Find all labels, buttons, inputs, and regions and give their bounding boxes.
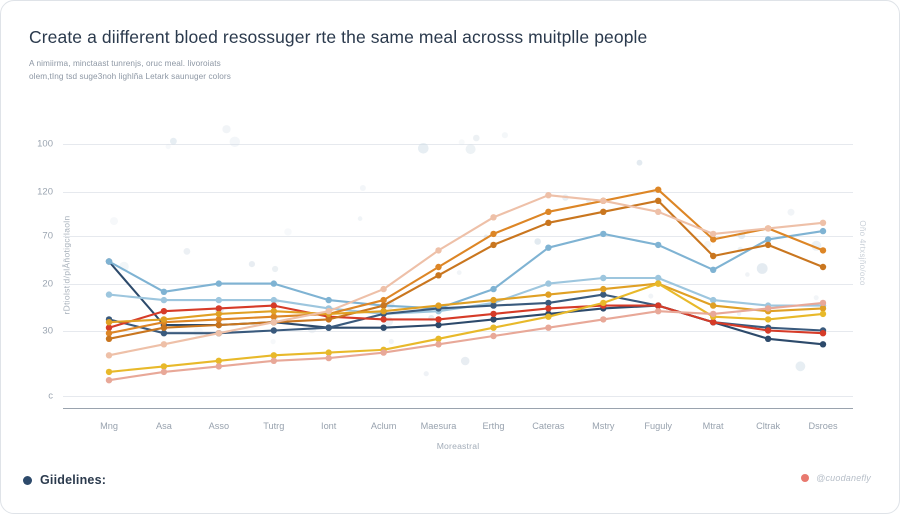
data-point [326, 316, 332, 322]
data-point [161, 363, 167, 369]
data-point [380, 308, 386, 314]
data-point [600, 316, 606, 322]
data-point [490, 325, 496, 331]
data-point [765, 305, 771, 311]
y-tick-label: 120 [37, 186, 53, 197]
data-point [820, 341, 826, 347]
data-point [710, 302, 716, 308]
data-point [820, 330, 826, 336]
data-point [765, 336, 771, 342]
data-point [710, 236, 716, 242]
data-point [600, 231, 606, 237]
chart-header: Create a diifferent bloed resossuger rte… [29, 27, 871, 83]
data-point [216, 311, 222, 317]
data-point [326, 355, 332, 361]
x-tick-label: Aclum [371, 421, 397, 431]
background-speckle [814, 295, 819, 300]
data-point [820, 264, 826, 270]
data-point [216, 297, 222, 303]
data-point [271, 314, 277, 320]
data-point [655, 242, 661, 248]
data-point [765, 316, 771, 322]
background-speckle [184, 248, 191, 255]
background-speckle [637, 160, 643, 166]
data-point [765, 327, 771, 333]
background-speckle [418, 143, 429, 154]
data-point [600, 286, 606, 292]
background-speckle [271, 339, 276, 344]
data-point [490, 333, 496, 339]
background-speckle [424, 371, 429, 376]
data-point [161, 289, 167, 295]
data-point [710, 297, 716, 303]
data-point [545, 300, 551, 306]
background-speckle [788, 209, 795, 216]
data-point [161, 330, 167, 336]
background-speckle [360, 185, 366, 191]
series-series-lightblue-2 [106, 275, 826, 317]
background-speckle [502, 132, 508, 138]
data-point [710, 253, 716, 259]
x-tick-label: Maesura [421, 421, 457, 431]
background-speckle [757, 263, 768, 274]
data-point [820, 220, 826, 226]
data-point [106, 319, 112, 325]
data-point [765, 236, 771, 242]
background-speckle [457, 270, 462, 275]
data-point [271, 327, 277, 333]
y-tick-label: 70 [42, 231, 53, 242]
data-point [380, 316, 386, 322]
data-point [600, 291, 606, 297]
data-point [655, 209, 661, 215]
series-line [109, 195, 823, 355]
page-subtitle: A nimiirma, minctaast tunrenjs, oruc mea… [29, 58, 871, 83]
data-point [820, 305, 826, 311]
guidelines-label: Giidelines: [40, 473, 106, 487]
data-point [710, 319, 716, 325]
data-point [161, 308, 167, 314]
y-tick-label: 100 [37, 139, 53, 150]
data-point [655, 302, 661, 308]
data-point [216, 358, 222, 364]
background-speckle [272, 266, 278, 272]
data-point [271, 352, 277, 358]
data-point [490, 311, 496, 317]
y-tick-label: c [48, 391, 53, 402]
background-speckle [389, 339, 394, 344]
x-tick-label: Erthg [482, 421, 504, 431]
data-point [435, 316, 441, 322]
data-point [106, 258, 112, 264]
data-point [216, 305, 222, 311]
data-point [380, 302, 386, 308]
data-point [161, 297, 167, 303]
y-tick-label: 30 [42, 326, 53, 337]
data-point [545, 291, 551, 297]
data-point [820, 228, 826, 234]
data-point [435, 322, 441, 328]
legend-label: @cuodanefly [816, 473, 871, 483]
data-point [106, 369, 112, 375]
data-point [271, 302, 277, 308]
data-point [106, 325, 112, 331]
data-point [655, 198, 661, 204]
x-tick-label: Fuguly [644, 421, 672, 431]
background-speckle [222, 125, 230, 133]
data-point [545, 280, 551, 286]
data-point [435, 341, 441, 347]
background-speckle [473, 135, 480, 142]
data-point [655, 275, 661, 281]
data-point [490, 302, 496, 308]
data-point [380, 297, 386, 303]
data-point [655, 308, 661, 314]
y-axis-title-right: Oño 4rtxsjño/oco [858, 221, 867, 286]
data-point [435, 247, 441, 253]
background-speckle [461, 357, 470, 366]
background-speckle [284, 228, 291, 235]
data-point [271, 358, 277, 364]
data-point [326, 297, 332, 303]
data-point [600, 275, 606, 281]
x-tick-label: Cltrak [756, 421, 780, 431]
x-tick-label: Iont [321, 421, 336, 431]
data-point [600, 209, 606, 215]
series-series-lightblue-1 [106, 228, 826, 312]
x-tick-label: Cateras [532, 421, 564, 431]
line-series-svg [63, 121, 853, 409]
data-point [380, 325, 386, 331]
x-tick-label: Asso [209, 421, 229, 431]
data-point [326, 325, 332, 331]
chart-legend[interactable]: @cuodanefly [801, 473, 871, 483]
data-point [326, 308, 332, 314]
data-point [600, 300, 606, 306]
data-point [765, 225, 771, 231]
background-speckle [358, 216, 363, 221]
data-point [326, 349, 332, 355]
data-point [710, 311, 716, 317]
data-point [216, 316, 222, 322]
data-point [161, 316, 167, 322]
data-point [271, 308, 277, 314]
series-series-salmon [106, 300, 826, 384]
data-point [545, 209, 551, 215]
data-point [161, 325, 167, 331]
data-point [490, 231, 496, 237]
background-speckle [170, 138, 177, 145]
background-speckle [745, 272, 750, 277]
data-point [820, 311, 826, 317]
background-speckle [249, 261, 255, 267]
data-point [271, 319, 277, 325]
data-point [106, 291, 112, 297]
data-point [655, 187, 661, 193]
data-point [216, 322, 222, 328]
data-point [435, 336, 441, 342]
data-point [216, 280, 222, 286]
data-point [161, 341, 167, 347]
data-point [106, 330, 112, 336]
x-axis-ticks: MngAsaAssoTutrgIontAclumMaesuraErthgCate… [63, 409, 853, 433]
data-point [600, 198, 606, 204]
data-point [545, 220, 551, 226]
data-point [435, 272, 441, 278]
background-speckle [796, 361, 806, 371]
data-point [106, 336, 112, 342]
data-point [820, 300, 826, 306]
x-axis-title: Moreastral [63, 441, 853, 451]
x-tick-label: Mtrat [703, 421, 724, 431]
legend-swatch-icon [801, 474, 809, 482]
data-point [161, 369, 167, 375]
data-point [271, 280, 277, 286]
data-point [490, 214, 496, 220]
data-point [820, 247, 826, 253]
plot-area: rDtiolstid/plÅñotigcrlaoln Oño 4rtxsjño/… [63, 121, 853, 409]
bullet-icon [23, 476, 32, 485]
data-point [271, 297, 277, 303]
data-point [216, 330, 222, 336]
y-tick-label: 20 [42, 278, 53, 289]
guidelines-footer: Giidelines: [23, 473, 106, 487]
data-point [490, 316, 496, 322]
data-point [655, 280, 661, 286]
background-speckle [466, 144, 476, 154]
background-speckle [459, 139, 465, 145]
x-tick-label: Dsroes [808, 421, 837, 431]
x-tick-label: Mng [100, 421, 118, 431]
data-point [545, 245, 551, 251]
data-point [545, 314, 551, 320]
data-point [490, 297, 496, 303]
background-speckle [534, 238, 541, 245]
chart-card: Create a diifferent bloed resossuger rte… [0, 0, 900, 514]
data-point [710, 231, 716, 237]
background-speckle [110, 217, 118, 225]
data-point [216, 363, 222, 369]
background-speckle [230, 137, 240, 147]
background-speckle [648, 294, 653, 299]
data-point [710, 267, 716, 273]
data-point [435, 264, 441, 270]
data-point [490, 242, 496, 248]
data-point [106, 377, 112, 383]
data-point [765, 242, 771, 248]
data-point [380, 349, 386, 355]
data-point [380, 286, 386, 292]
page-title: Create a diifferent bloed resossuger rte… [29, 27, 871, 48]
background-speckle [166, 144, 171, 149]
x-tick-label: Asa [156, 421, 172, 431]
data-point [545, 192, 551, 198]
data-point [435, 302, 441, 308]
data-point [106, 352, 112, 358]
data-point [545, 325, 551, 331]
data-point [490, 286, 496, 292]
x-tick-label: Tutrg [263, 421, 284, 431]
x-tick-label: Mstry [592, 421, 614, 431]
data-point [545, 305, 551, 311]
